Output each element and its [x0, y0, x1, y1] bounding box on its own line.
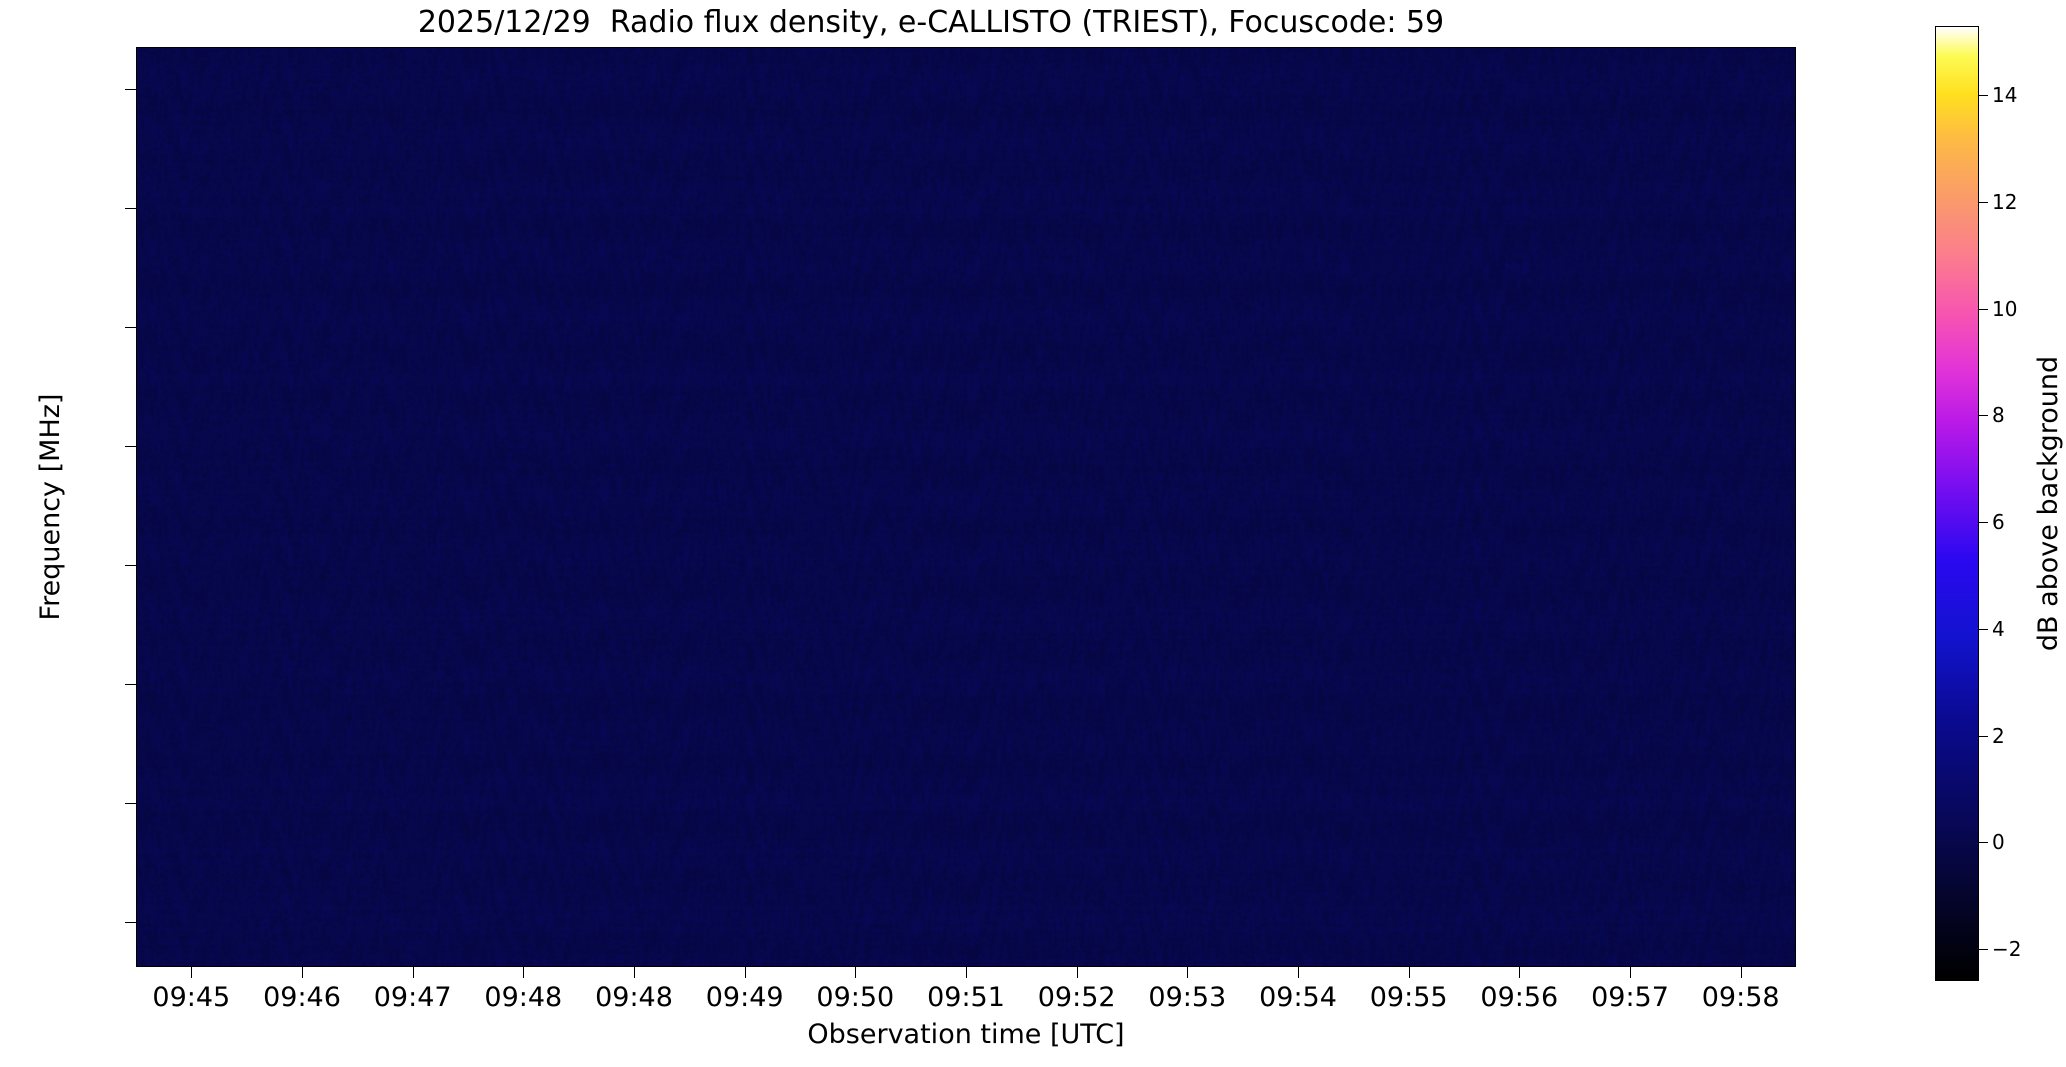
- x-tick-mark: [966, 967, 967, 978]
- colorbar-tick-mark: [1979, 949, 1988, 950]
- x-tick-mark: [302, 967, 303, 978]
- spectrogram-image: [137, 48, 1795, 966]
- x-tick-mark: [1077, 967, 1078, 978]
- x-tick-mark: [1630, 967, 1631, 978]
- x-tick-label: 09:58: [1666, 983, 1816, 1013]
- y-tick-mark: [125, 922, 136, 923]
- y-axis-label: Frequency [MHz]: [34, 47, 68, 967]
- y-tick-mark: [125, 327, 136, 328]
- x-tick-mark: [191, 967, 192, 978]
- colorbar-tick-label: 2: [1992, 726, 2005, 746]
- y-tick-mark: [125, 803, 136, 804]
- spectrogram-plot-area: [136, 47, 1796, 967]
- colorbar-tick-mark: [1979, 95, 1988, 96]
- x-tick-mark: [745, 967, 746, 978]
- colorbar-tick-label: 10: [1992, 299, 2017, 319]
- colorbar-tick-mark: [1979, 736, 1988, 737]
- page-title: 2025/12/29 Radio flux density, e-CALLIST…: [0, 6, 1862, 40]
- colorbar-tick-mark: [1979, 842, 1988, 843]
- x-tick-mark: [855, 967, 856, 978]
- colorbar-tick-label: 8: [1992, 405, 2005, 425]
- colorbar-tick-label: 12: [1992, 192, 2017, 212]
- colorbar-tick-label: 6: [1992, 512, 2005, 532]
- colorbar-tick-mark: [1979, 522, 1988, 523]
- y-tick-mark: [125, 208, 136, 209]
- colorbar-tick-label: 0: [1992, 832, 2005, 852]
- spectrogram-figure: 2025/12/29 Radio flux density, e-CALLIST…: [0, 0, 2066, 1067]
- x-axis-label: Observation time [UTC]: [136, 1018, 1796, 1052]
- colorbar-tick-label: −2: [1992, 939, 2021, 959]
- y-tick-mark: [125, 446, 136, 447]
- colorbar: [1935, 26, 1979, 981]
- colorbar-tick-label: 4: [1992, 619, 2005, 639]
- x-tick-mark: [1187, 967, 1188, 978]
- x-tick-mark: [1519, 967, 1520, 978]
- colorbar-tick-mark: [1979, 309, 1988, 310]
- colorbar-gradient: [1936, 27, 1978, 980]
- y-tick-mark: [125, 565, 136, 566]
- colorbar-tick-mark: [1979, 415, 1988, 416]
- colorbar-label: dB above background: [2032, 26, 2066, 981]
- y-tick-mark: [125, 89, 136, 90]
- x-tick-mark: [1409, 967, 1410, 978]
- x-tick-mark: [523, 967, 524, 978]
- x-tick-mark: [1298, 967, 1299, 978]
- x-tick-mark: [413, 967, 414, 978]
- y-tick-mark: [125, 684, 136, 685]
- x-tick-mark: [1741, 967, 1742, 978]
- x-tick-mark: [634, 967, 635, 978]
- colorbar-tick-label: 14: [1992, 85, 2017, 105]
- colorbar-tick-mark: [1979, 629, 1988, 630]
- colorbar-tick-mark: [1979, 202, 1988, 203]
